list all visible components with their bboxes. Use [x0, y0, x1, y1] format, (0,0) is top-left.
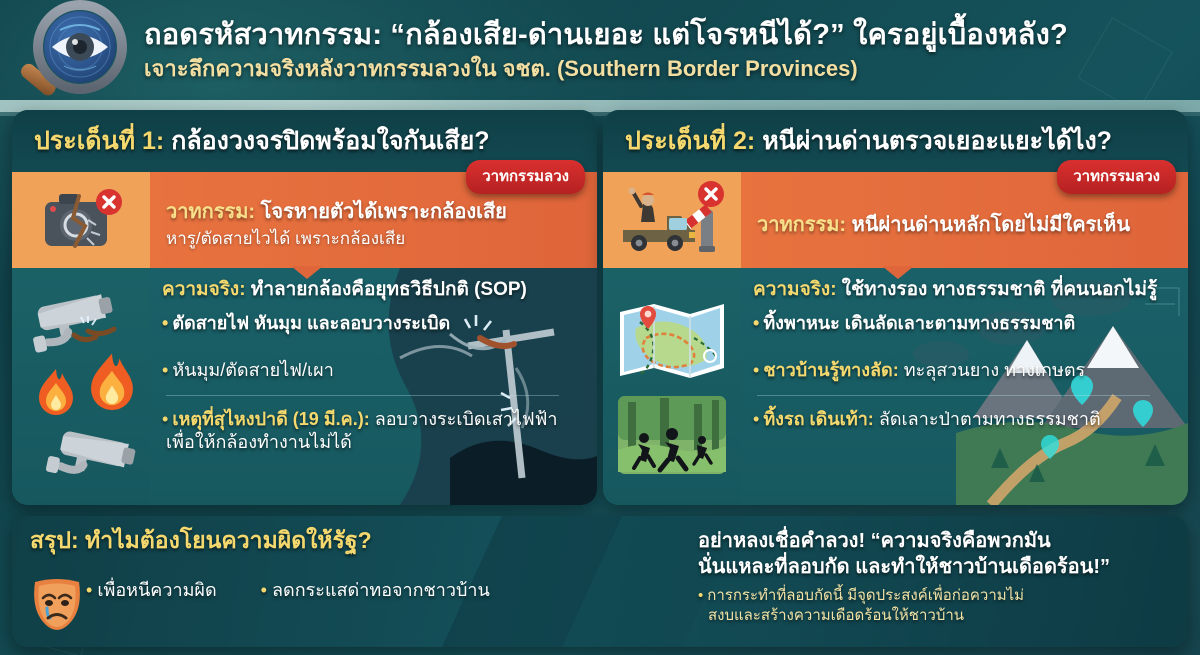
page-title: ถอดรหัสวาทกรรม: “กล้องเสีย-ด่านเยอะ แต่โ… [144, 18, 1068, 53]
summary-warning-line-1: อย่าหลงเชื่อคำลวง! “ความจริงคือพวกมัน [698, 530, 1051, 552]
summary-bullets: •เพื่อหนีความผิด •ลดกระแสด่าทอจากชาวบ้าน [30, 575, 500, 604]
summary-bullet-1: •เพื่อหนีความผิด [86, 575, 217, 604]
panel-2-truth-body: ความจริง: ใช้ทางรอง ทางธรรมชาติ ที่คนนอก… [603, 268, 1188, 505]
bullet-dot-icon: • [162, 313, 168, 333]
panel-1-truth-lead: ความจริง: [162, 279, 246, 300]
panel-1-bullet-3-text: ลอบวางระเบิดเสาไฟฟ้า [370, 409, 558, 429]
panel-1-claim-line: วาทกรรม: โจรหายตัวได้เพราะกล้องเสีย [166, 199, 581, 225]
summary-warning-line-2: นั่นแหละที่ลอบกัด และทำให้ชาวบ้านเดือดร้… [698, 556, 1110, 578]
panel-1-claim-lead: วาทกรรม: [166, 201, 255, 223]
panel-1-divider [166, 395, 559, 396]
page-subtitle: เจาะลึกความจริงหลังวาทกรรมลวงใน จชต. (So… [144, 55, 1068, 83]
summary-right-block: อย่าหลงเชื่อคำลวง! “ความจริงคือพวกมัน นั… [698, 528, 1188, 625]
fire-icon [83, 351, 141, 415]
panel-2-bullet-1-text: ทิ้งพาหนะ เดินลัดเลาะตามทางธรรมชาติ [763, 313, 1075, 333]
panel-1-claim-text: โจรหายตัวได้เพราะกล้องเสีย [255, 201, 507, 223]
summary-warning-sub-1: การกระทำที่ลอบกัดนี้ มีจุดประสงค์เพื่อก่… [707, 587, 1024, 604]
panel-1-bullet-3-text2: เพื่อให้กล้องทำงานไม่ได้ [166, 432, 352, 452]
summary-bullet-1-text: เพื่อหนีความผิด [97, 580, 216, 600]
panel-1-icon-column [12, 268, 150, 505]
panel-2-claim-icon-col [603, 172, 741, 268]
status-badge-claim-1: วาทกรรมลวง [466, 160, 585, 194]
panel-1-truth-body: ความจริง: ทำลายกล้องคือยุทธวิธีปกติ (SOP… [12, 268, 597, 505]
panel-1-claim-line2: หารู/ตัดสายไวได้ เพราะกล้องเสีย [166, 228, 581, 250]
forest-runners-icon [616, 394, 728, 476]
folded-map-icon [616, 298, 728, 382]
panel-1-title-prefix: ประเด็นที่ 1: [34, 127, 164, 155]
panel-2-divider [757, 395, 1150, 396]
broken-power-pole-night-art [150, 268, 597, 505]
fire-icon [33, 367, 79, 419]
summary-bullet-2: •ลดกระแสด่าทอจากชาวบ้าน [261, 575, 490, 604]
magnifier-eye-icon [16, 0, 134, 104]
summary-bullet-2-text: ลดกระแสด่าทอจากชาวบ้าน [272, 580, 490, 600]
panel-1-truth-text-col: ความจริง: ทำลายกล้องคือยุทธวิธีปกติ (SOP… [150, 268, 597, 505]
summary-warning: อย่าหลงเชื่อคำลวง! “ความจริงคือพวกมัน นั… [698, 528, 1188, 581]
infographic-root: ถอดรหัสวาทกรรม: “กล้องเสีย-ด่านเยอะ แต่โ… [0, 0, 1200, 655]
sad-mask-icon [30, 574, 84, 632]
panel-1-bullet-2-text: หันมุม/ตัดสายไฟ/เผา [172, 360, 334, 380]
panel-1-title: ประเด็นที่ 1: กล้องวงจรปิดพร้อมใจกันเสีย… [34, 121, 490, 161]
bullet-dot-icon: • [162, 360, 168, 380]
bullet-dot-icon: • [261, 580, 267, 600]
panel-2-truth-lead: ความจริง: [753, 279, 837, 300]
panel-1-claim-icon-col [12, 172, 150, 268]
panel-2-bullet-2-highlight: ชาวบ้านรู้ทางลัด: [763, 360, 898, 380]
panel-2-bullet-2: •ชาวบ้านรู้ทางลัด: ทะลุสวนยาง ทางเกษตร [753, 359, 1174, 382]
panel-issue-2: ประเด็นที่ 2: หนีผ่านด่านตรวจเยอะแยะได้ไ… [603, 110, 1188, 505]
bullet-dot-icon: • [753, 360, 759, 380]
bullet-dot-icon: • [162, 409, 168, 429]
panel-1-title-rest: กล้องวงจรปิดพร้อมใจกันเสีย? [164, 127, 489, 155]
mountain-trail-art [741, 268, 1188, 505]
panel-2-truth-head: ความจริง: ใช้ทางรอง ทางธรรมชาติ ที่คนนอก… [753, 278, 1174, 302]
panel-1-bullet-3-highlight: เหตุที่สุไหงปาดี (19 มี.ค.): [172, 409, 369, 429]
panel-2-truth-text-col: ความจริง: ใช้ทางรอง ทางธรรมชาติ ที่คนนอก… [741, 268, 1188, 505]
panel-1-bullet-3: •เหตุที่สุไหงปาดี (19 มี.ค.): ลอบวางระเบ… [162, 408, 583, 455]
bullet-dot-icon: • [753, 409, 759, 429]
panel-2-bullet-3-text: ลัดเลาะป่าตามทางธรรมชาติ [874, 409, 1101, 429]
bullet-dot-icon: • [698, 587, 703, 604]
status-badge-claim-2: วาทกรรมลวง [1057, 160, 1176, 194]
panel-2-claim-band: วาทกรรมลวง [603, 172, 1188, 268]
panel-1-truth-text: ทำลายกล้องคือยุทธวิธีปกติ (SOP) [246, 279, 527, 300]
panel-2-title-prefix: ประเด็นที่ 2: [625, 127, 755, 155]
pickup-truck-checkpoint-icon [617, 180, 727, 260]
panel-2-bullet-3-highlight: ทิ้งรถ เดินเท้า: [763, 409, 874, 429]
summary-title: สรุป: ทำไมต้องโยนความผิดให้รัฐ? [30, 526, 500, 555]
panel-1-truth-head: ความจริง: ทำลายกล้องคือยุทธวิธีปกติ (SOP… [162, 278, 583, 302]
panel-2-title: ประเด็นที่ 2: หนีผ่านด่านตรวจเยอะแยะได้ไ… [625, 121, 1112, 161]
panel-2-bullet-2-text: ทะลุสวนยาง ทางเกษตร [899, 360, 1085, 380]
panel-1-bullet-2: •หันมุม/ตัดสายไฟ/เผา [162, 359, 583, 382]
panel-issue-1: ประเด็นที่ 1: กล้องวงจรปิดพร้อมใจกันเสีย… [12, 110, 597, 505]
panel-1-bullet-1-text: ตัดสายไฟ หันมุม และลอบวางระเบิด [172, 313, 450, 333]
panel-2-truth-text: ใช้ทางรอง ทางธรรมชาติ ที่คนนอกไม่รู้ [837, 279, 1158, 300]
logo [14, 0, 136, 104]
summary-warning-sub-2: สงบและสร้างความเดือดร้อนให้ชาวบ้าน [708, 607, 964, 624]
broken-camera-icon [33, 180, 129, 260]
panel-2-bullet-1: •ทิ้งพาหนะ เดินลัดเลาะตามทางธรรมชาติ [753, 312, 1174, 335]
summary-panel: สรุป: ทำไมต้องโยนความผิดให้รัฐ? •เพื่อหน… [12, 516, 1188, 647]
panel-2-claim-text: หนีผ่านด่านหลักโดยไม่มีใครเห็น [846, 214, 1130, 236]
panel-1-bullet-1: •ตัดสายไฟ หันมุม และลอบวางระเบิด [162, 312, 583, 335]
panel-2-claim-lead: วาทกรรม: [757, 214, 846, 236]
panel-2-claim-line: วาทกรรม: หนีผ่านด่านหลักโดยไม่มีใครเห็น [757, 212, 1172, 238]
cctv-camera-icon [22, 287, 140, 353]
cctv-camera-icon [35, 427, 153, 491]
bullet-dot-icon: • [86, 580, 92, 600]
bullet-dot-icon: • [753, 313, 759, 333]
summary-left-block: สรุป: ทำไมต้องโยนความผิดให้รัฐ? •เพื่อหน… [30, 526, 500, 604]
header-text-block: ถอดรหัสวาทกรรม: “กล้องเสีย-ด่านเยอะ แต่โ… [136, 18, 1068, 87]
header: ถอดรหัสวาทกรรม: “กล้องเสีย-ด่านเยอะ แต่โ… [0, 0, 1200, 104]
panel-2-icon-column [603, 268, 741, 505]
panel-2-title-rest: หนีผ่านด่านตรวจเยอะแยะได้ไง? [755, 127, 1112, 155]
summary-warning-sub: •การกระทำที่ลอบกัดนี้ มีจุดประสงค์เพื่อก… [698, 586, 1188, 626]
panel-1-claim-band: วาทกรรมลวง วาทกรรม: โจรหายตัวได้เพราะกล้… [12, 172, 597, 268]
panel-2-bullet-3: •ทิ้งรถ เดินเท้า: ลัดเลาะป่าตามทางธรรมชา… [753, 408, 1174, 431]
